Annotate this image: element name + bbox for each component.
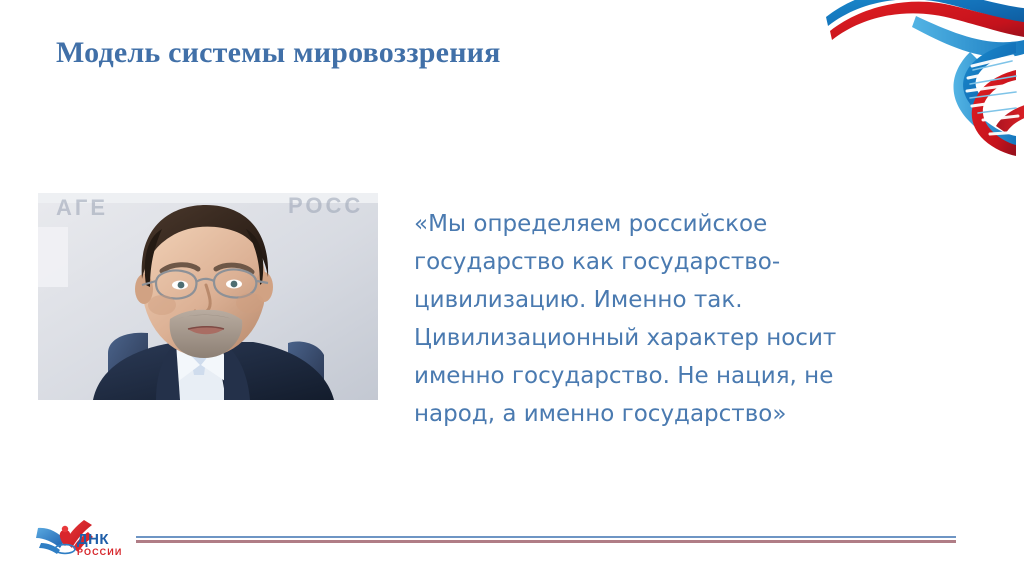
presentation-slide: Модель системы мировоззрения (0, 0, 1024, 574)
photo-backdrop-text-left: АГЕ (56, 195, 108, 220)
quote-line: цивилизацию. Именно так. (414, 281, 914, 319)
photo-backdrop-text-right: РОСС (288, 193, 363, 218)
speaker-photo: АГЕ РОСС (38, 193, 378, 400)
quote-line: государство как государство- (414, 243, 914, 281)
quote-line: «Мы определяем российское (414, 205, 914, 243)
quote-text: «Мы определяем российское государство ка… (414, 205, 914, 433)
footer-divider-blue-line (136, 536, 956, 538)
quote-line: именно государство. Не нация, не (414, 357, 914, 395)
footer-divider (136, 536, 956, 543)
speaker-photo-image: АГЕ РОСС (38, 193, 378, 400)
quote-line: Цивилизационный характер носит (414, 319, 914, 357)
page-title: Модель системы мировоззрения (56, 36, 776, 70)
quote-line: народ, а именно государство» (414, 395, 914, 433)
logo-title: ДНК (77, 531, 109, 548)
dna-helix-ribbon-icon (820, 0, 1024, 161)
logo-subtitle: РОССИИ (77, 547, 122, 557)
footer-divider-red-line (136, 540, 956, 543)
dnk-rossii-logo: ДНК РОССИИ (36, 516, 128, 560)
